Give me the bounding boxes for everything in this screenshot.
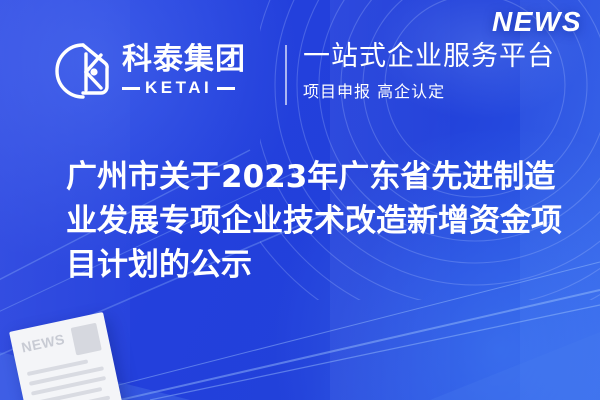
brand-wordmark: 科泰集团 KETAI [122,44,246,99]
tagline-main: 一站式企业服务平台 [303,40,555,74]
brand-name-cn: 科泰集团 [122,44,246,76]
brand-name-en-row: KETAI [122,78,246,98]
newspaper-graphic: NEWS [9,312,125,400]
brand-logo: 科泰集团 KETAI [52,40,246,102]
brand-name-en: KETAI [145,78,212,98]
ketai-diamond-monogram-icon [52,40,114,102]
newspaper-masthead: NEWS [20,328,74,354]
wordmark-dash-right-icon [217,87,235,90]
header-divider [285,45,287,105]
wordmark-dash-left-icon [122,87,140,90]
page-title: 广州市关于2023年广东省先进制造业发展专项企业技术改造新增资金项目计划的公示 [66,155,566,287]
newspaper-thumbnail-icon [71,323,102,356]
tagline: 一站式企业服务平台 项目申报 高企认定 [303,40,555,102]
news-banner: 科泰集团 KETAI 一站式企业服务平台 项目申报 高企认定 NEWS 广州市关… [0,0,600,400]
newspaper-top-row: NEWS [20,323,102,367]
news-badge-label: NEWS [492,6,582,38]
tagline-sub: 项目申报 高企认定 [303,78,555,102]
